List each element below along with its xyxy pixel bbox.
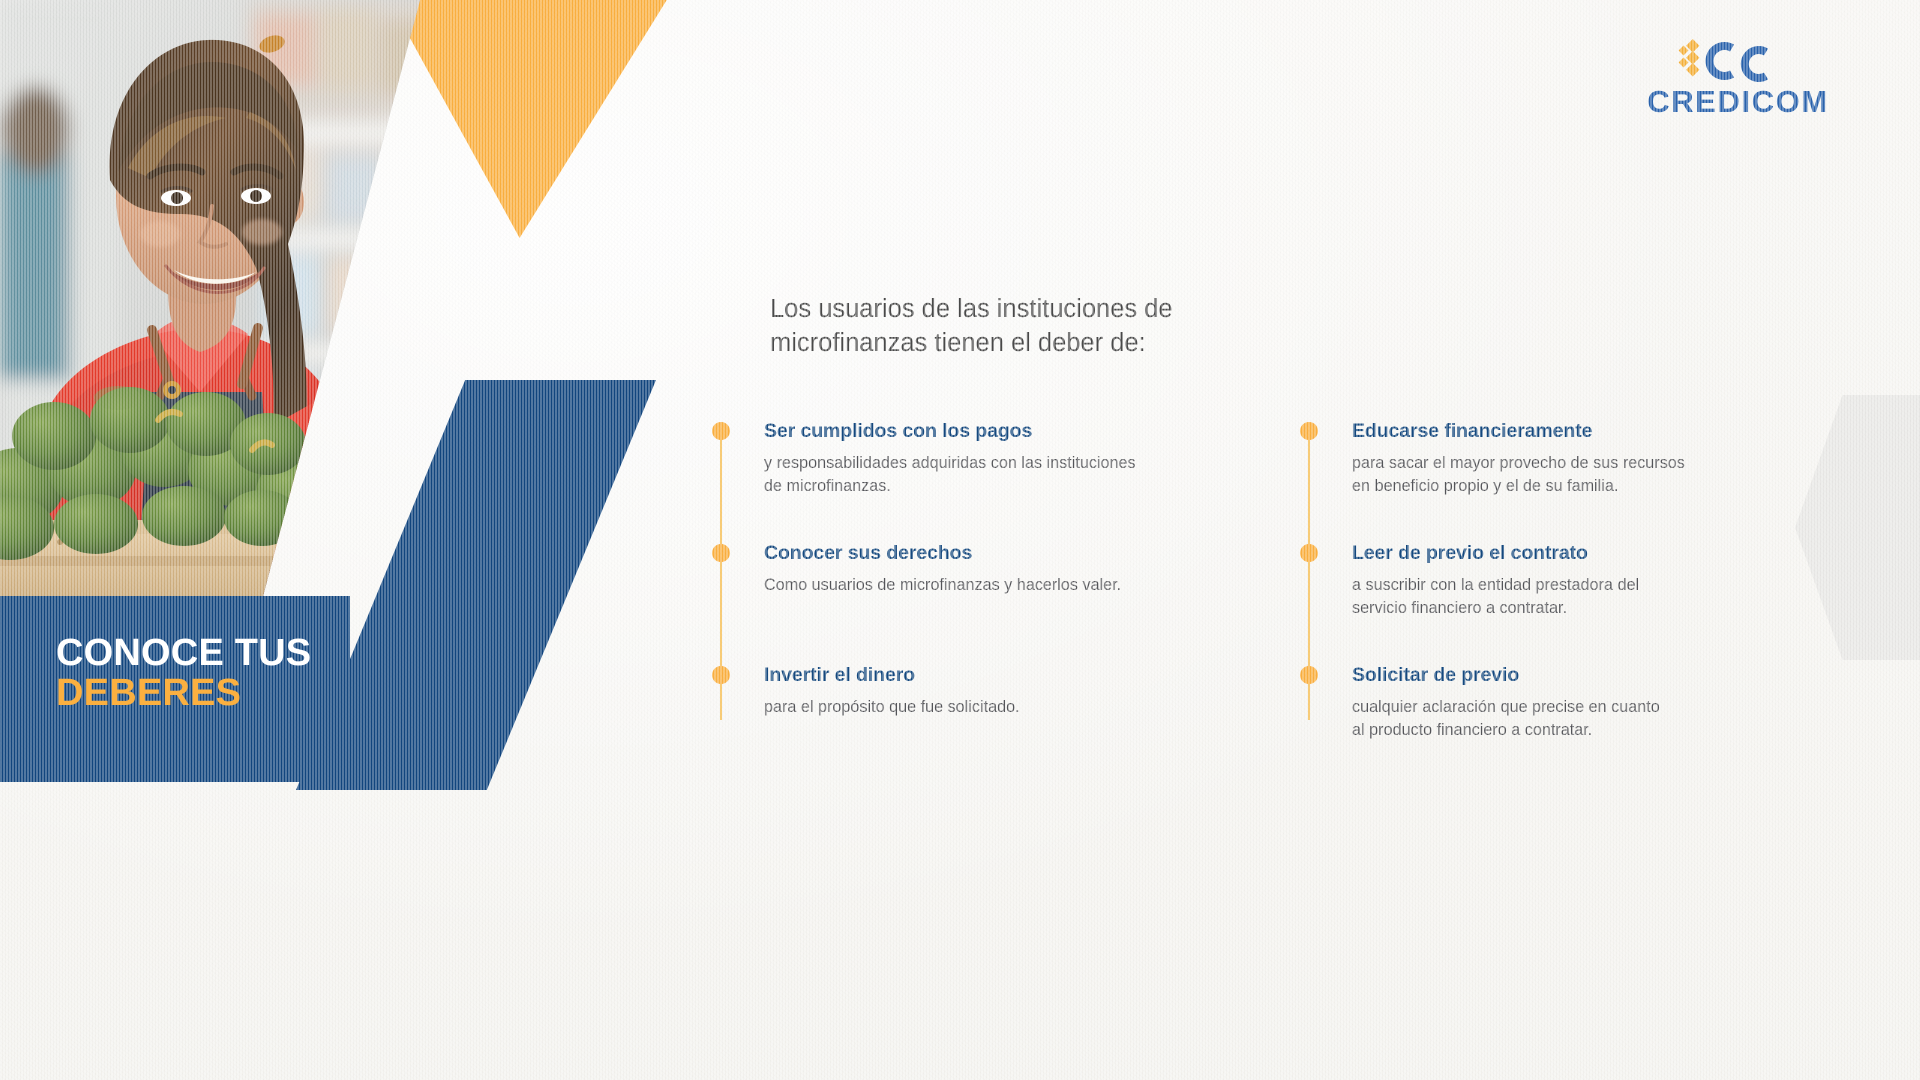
duty-item: Invertir el dinero para el propósito que… [712, 664, 1232, 786]
duty-body: cualquier aclaración que precise en cuan… [1352, 696, 1820, 742]
credicom-cc-monogram-icon [1678, 38, 1798, 84]
duty-title: Ser cumplidos con los pagos [764, 420, 1232, 443]
woman-shopkeeper-photo [0, 0, 470, 600]
bullet-dot-icon [712, 544, 730, 562]
duty-title: Conocer sus derechos [764, 542, 1232, 565]
duty-title: Leer de previo el contrato [1352, 542, 1820, 565]
page-title-line2: DEBERES [56, 674, 476, 714]
bullet-dot-icon [1300, 666, 1318, 684]
duty-item: Educarse financieramente para sacar el m… [1300, 420, 1820, 542]
orange-triangle-decoration [388, 0, 668, 238]
hero-photo-panel [0, 0, 470, 600]
duty-body: y responsabilidades adquiridas con las i… [764, 452, 1232, 498]
page-title: CONOCE TUS DEBERES [56, 634, 476, 713]
duty-item: Ser cumplidos con los pagos y responsabi… [712, 420, 1232, 542]
duties-column-left: Ser cumplidos con los pagos y responsabi… [712, 420, 1232, 786]
duties-column-right: Educarse financieramente para sacar el m… [1300, 420, 1820, 786]
bullet-dot-icon [712, 422, 730, 440]
brand-name: CREDICOM [1618, 86, 1858, 117]
blue-diagonal-decoration [296, 380, 656, 790]
duty-title: Solicitar de previo [1352, 664, 1820, 687]
duty-body: para el propósito que fue solicitado. [764, 696, 1232, 719]
bullet-dot-icon [1300, 422, 1318, 440]
page-title-line1: CONOCE TUS [56, 634, 476, 674]
brand-logo: CREDICOM [1618, 38, 1858, 117]
duty-title: Invertir el dinero [764, 664, 1232, 687]
duty-item: Solicitar de previo cualquier aclaración… [1300, 664, 1820, 786]
photo-illustration [0, 0, 470, 600]
duty-item: Leer de previo el contrato a suscribir c… [1300, 542, 1820, 664]
bullet-dot-icon [1300, 544, 1318, 562]
poster-canvas: CONOCE TUS DEBERES CREDICOM Los usuarios… [0, 0, 1920, 1080]
duty-item: Conocer sus derechos Como usuarios de mi… [712, 542, 1232, 664]
duty-body: a suscribir con la entidad prestadora de… [1352, 574, 1820, 620]
duty-title: Educarse financieramente [1352, 420, 1820, 443]
duty-body: para sacar el mayor provecho de sus recu… [1352, 452, 1820, 498]
duty-body: Como usuarios de microfinanzas y hacerlo… [764, 574, 1232, 597]
section-heading: Los usuarios de las instituciones de mic… [770, 292, 1330, 361]
bullet-dot-icon [712, 666, 730, 684]
